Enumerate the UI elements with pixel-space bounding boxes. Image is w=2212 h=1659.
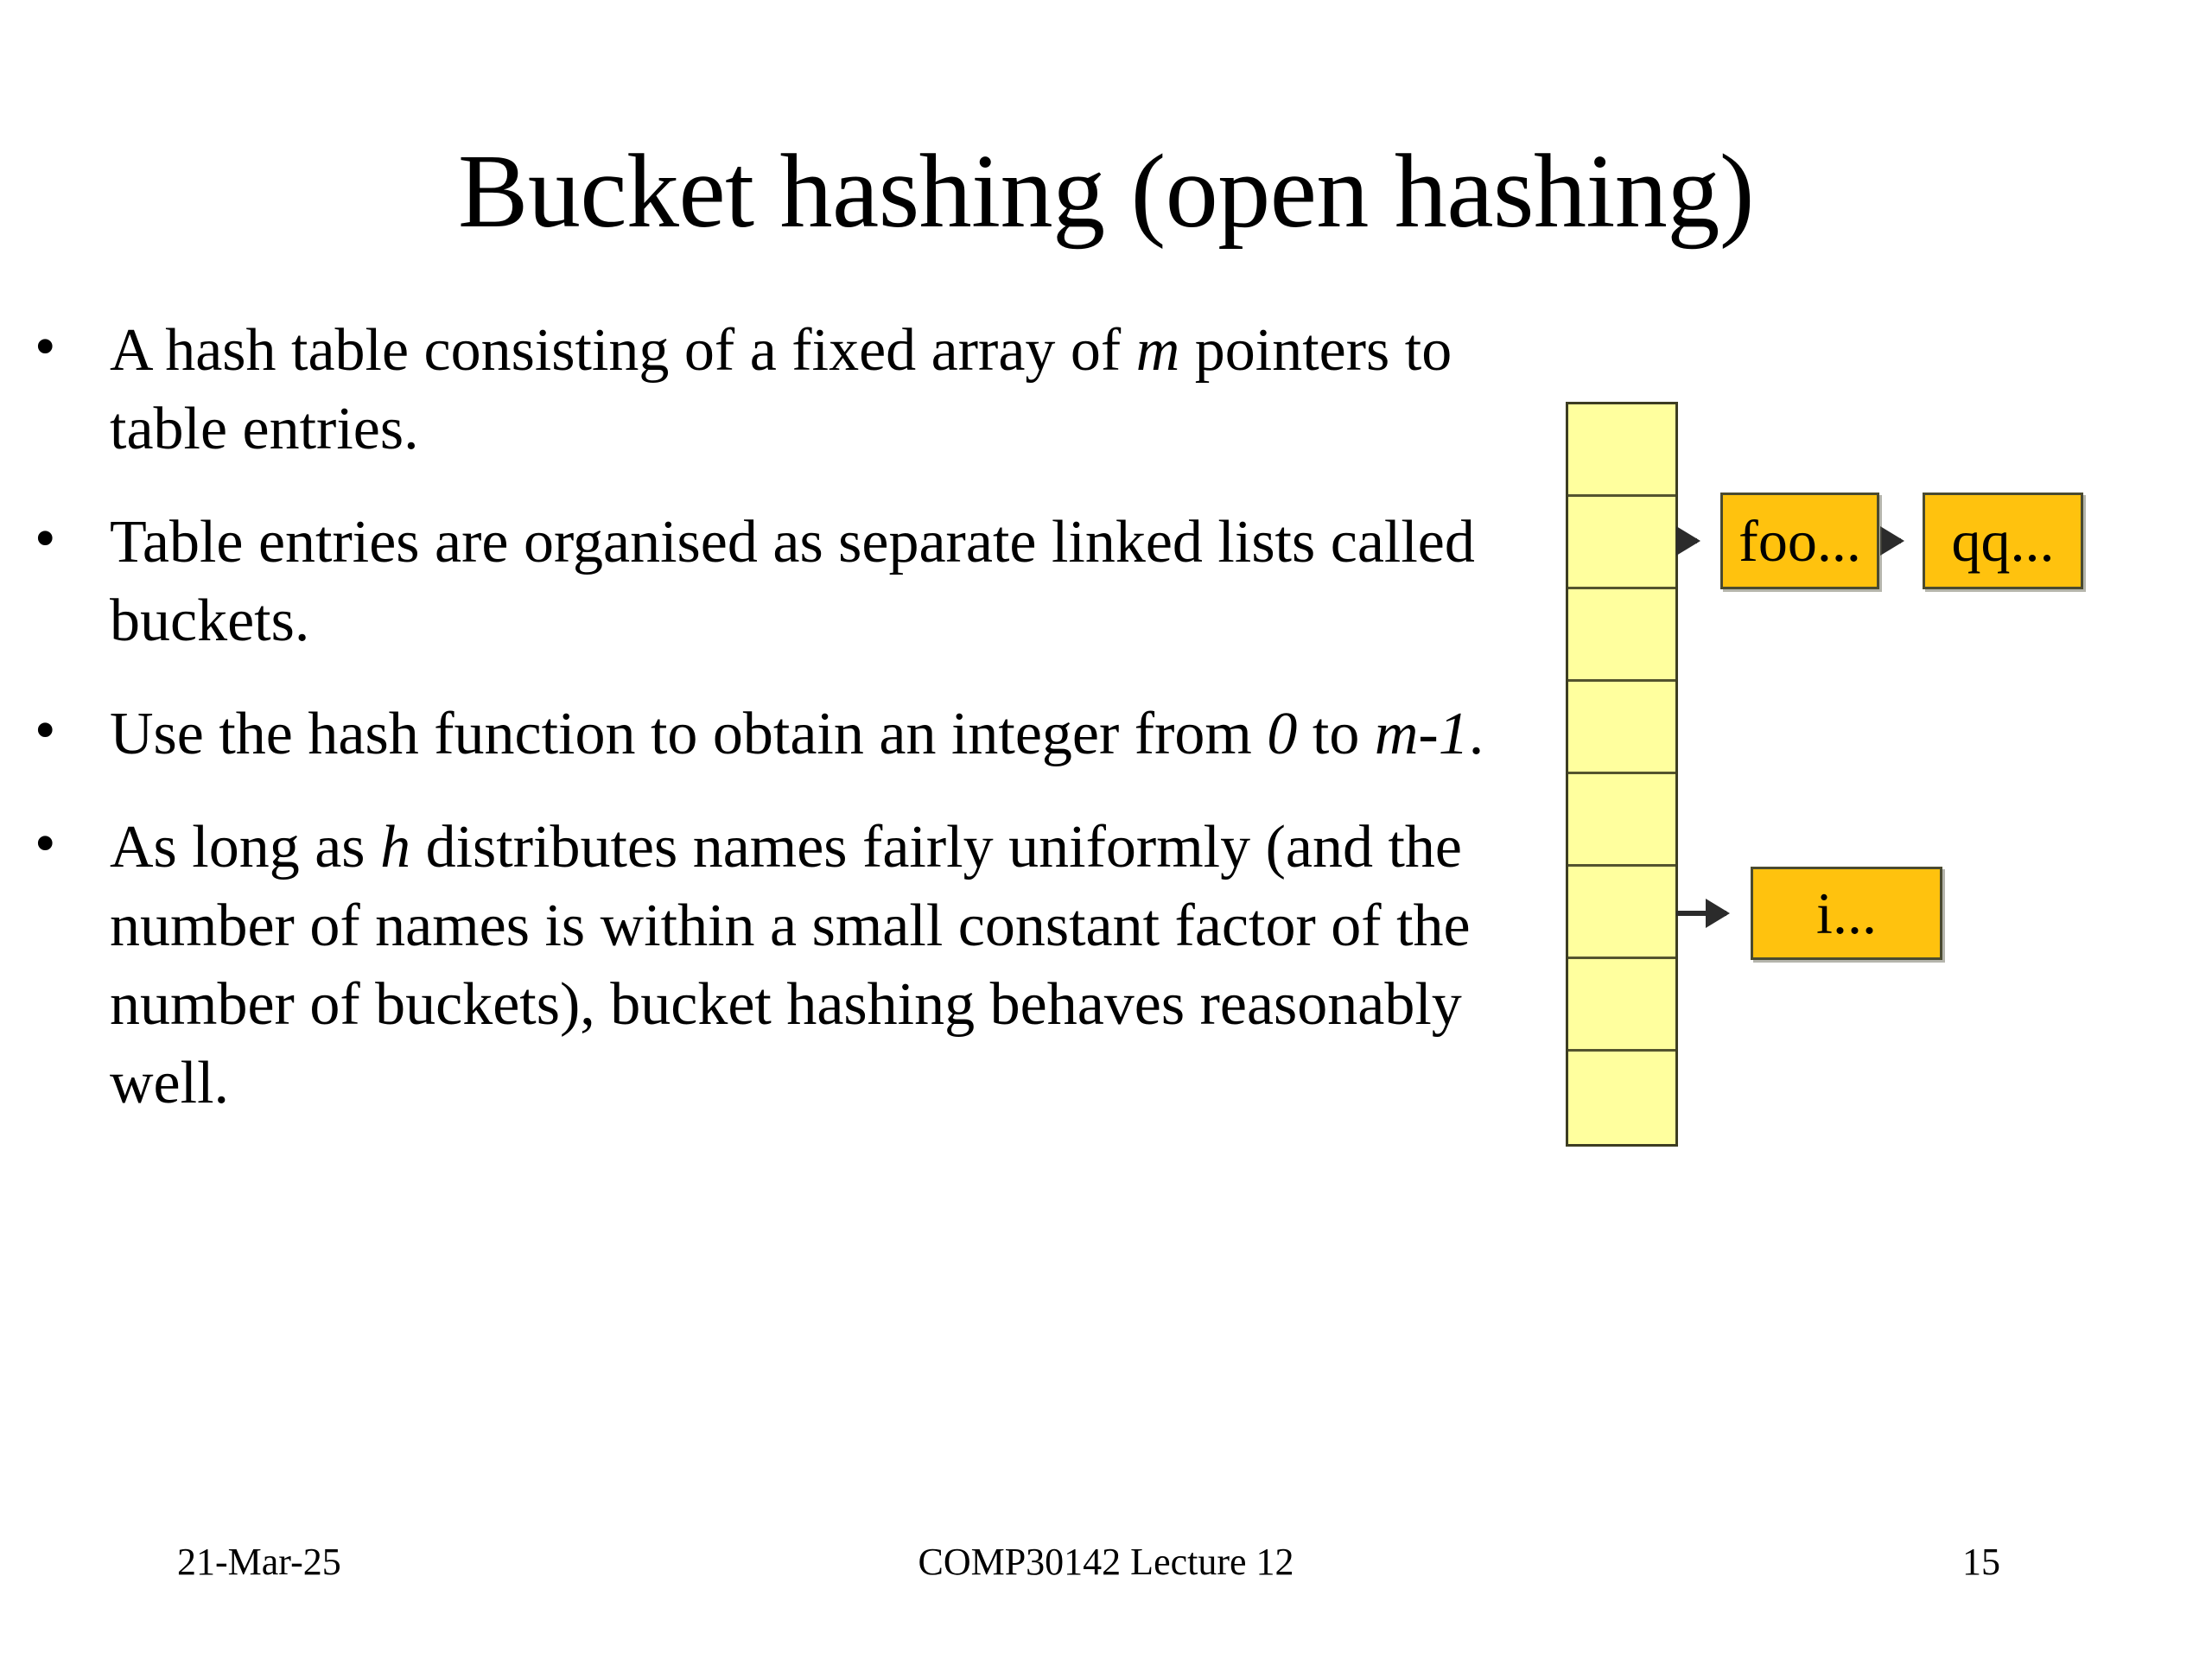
bucket-cell-5 — [1568, 774, 1675, 867]
footer-page-number: 15 — [1962, 1536, 2000, 1588]
slide-footer: 21-Mar-25 COMP30142 Lecture 12 15 — [0, 1536, 2212, 1588]
bullet-text-segment: Use the hash function to obtain an integ… — [110, 701, 1267, 767]
bullet-text-linked-lists: Table entries are organised as separate … — [110, 509, 1475, 654]
bullet-text-italic-m: m — [1136, 317, 1180, 384]
bullet-text-segment: As long as — [110, 814, 380, 880]
bucket-cell-7 — [1568, 959, 1675, 1052]
bullet-marker-icon: • — [35, 499, 56, 578]
bullet-text-segment: A hash table consisting of a fixed array… — [110, 317, 1136, 384]
bullet-text-italic-h: h — [380, 814, 410, 880]
arrow-bucket2-to-foo-icon — [1676, 538, 1697, 543]
page-title: Bucket hashing (open hashing) — [0, 137, 2212, 247]
bucket-cell-2 — [1568, 497, 1675, 589]
bullet-item-linked-lists: • Table entries are organised as separat… — [19, 503, 1522, 660]
bucket-cell-4 — [1568, 682, 1675, 774]
bucket-cell-6 — [1568, 867, 1675, 959]
bullet-item-hash-function: • Use the hash function to obtain an int… — [19, 695, 1522, 773]
bucket-node-qq: qq... — [1923, 493, 2083, 589]
bucket-cell-3 — [1568, 589, 1675, 682]
bucket-node-i: i... — [1751, 867, 1942, 960]
bullet-text-segment: to — [1297, 701, 1374, 767]
arrow-foo-to-qq-icon — [1880, 538, 1901, 543]
bullet-item-uniform-distribution: • As long as h distributes names fairly … — [19, 808, 1522, 1122]
bullet-item-fixed-array: • A hash table consisting of a fixed arr… — [19, 311, 1522, 468]
bucket-pointer-array — [1566, 402, 1678, 1147]
bullet-text-segment: Table entries are organised as separate … — [110, 509, 1475, 654]
bucket-cell-8 — [1568, 1052, 1675, 1144]
bucket-hash-table-diagram: foo... qq... i... — [1538, 380, 2160, 1175]
bullet-text-segment: . — [1469, 701, 1484, 767]
bullet-text-italic-m-minus-1: m-1 — [1375, 701, 1469, 767]
bullet-marker-icon: • — [35, 308, 56, 386]
bullet-marker-icon: • — [35, 691, 56, 770]
bullet-text-italic-zero: 0 — [1267, 701, 1297, 767]
bullet-marker-icon: • — [35, 804, 56, 883]
bullet-text-uniform-distribution: As long as h distributes names fairly un… — [110, 814, 1471, 1116]
bullet-text-fixed-array: A hash table consisting of a fixed array… — [110, 317, 1452, 462]
footer-course-name: COMP30142 Lecture 12 — [0, 1536, 2212, 1588]
bucket-node-foo: foo... — [1720, 493, 1879, 589]
arrow-bucket6-to-i-icon — [1676, 911, 1726, 916]
bullet-text-hash-function: Use the hash function to obtain an integ… — [110, 701, 1484, 767]
bullet-list: • A hash table consisting of a fixed arr… — [19, 311, 1522, 1122]
bucket-cell-1 — [1568, 404, 1675, 497]
